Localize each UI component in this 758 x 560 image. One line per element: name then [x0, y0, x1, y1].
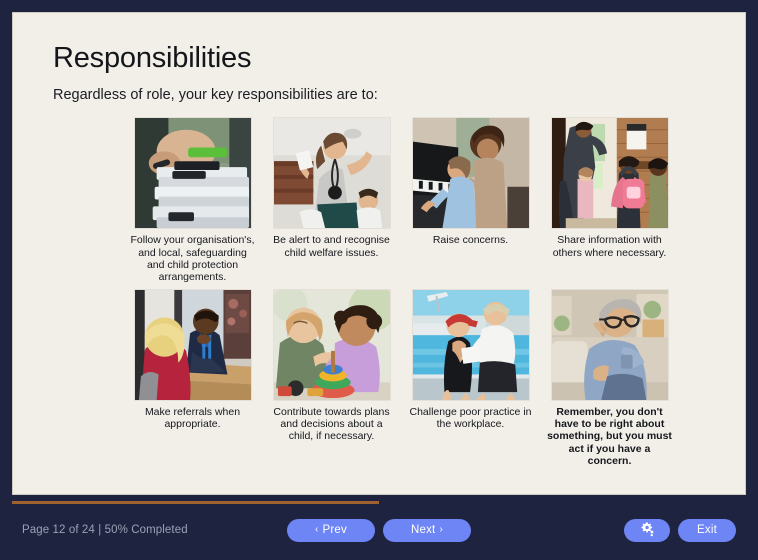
exit-button[interactable]: Exit	[678, 519, 736, 542]
responsibility-caption: Share information with others where nece…	[547, 234, 673, 258]
piano-image	[412, 117, 530, 229]
responsibility-caption: Contribute towards plans and decisions a…	[269, 406, 395, 443]
chevron-right-icon: ›	[439, 525, 443, 535]
settings-button[interactable]	[624, 519, 670, 542]
responsibility-card: Follow your organisation's, and local, s…	[123, 117, 262, 283]
responsibility-card: Make referrals when appropriate.	[123, 289, 262, 467]
responsibility-caption: Raise concerns.	[408, 234, 534, 246]
prev-button[interactable]: ‹ Prev	[287, 519, 375, 542]
responsibility-caption: Follow your organisation's, and local, s…	[130, 234, 256, 283]
responsibility-caption: Make referrals when appropriate.	[130, 406, 256, 430]
prev-button-label: Prev	[323, 524, 347, 536]
page-title: Responsibilities	[53, 43, 711, 73]
responsibility-card: Share information with others where nece…	[540, 117, 679, 283]
responsibility-caption: Remember, you don't have to be right abo…	[547, 406, 673, 467]
responsibility-card: Be alert to and recognise child welfare …	[262, 117, 401, 283]
chevron-left-icon: ‹	[315, 525, 319, 535]
slide-subtitle: Regardless of role, your key responsibil…	[53, 87, 711, 103]
meeting-image	[134, 289, 252, 401]
responsibility-card: Challenge poor practice in the workplace…	[401, 289, 540, 467]
responsibility-card: Contribute towards plans and decisions a…	[262, 289, 401, 467]
course-player: Responsibilities Regardless of role, you…	[0, 0, 758, 560]
responsibility-grid-row-1: Follow your organisation's, and local, s…	[43, 117, 711, 283]
responsibility-grid-row-2: Make referrals when appropriate.	[43, 289, 711, 467]
thoughtful-man-image	[551, 289, 669, 401]
responsibility-caption: Be alert to and recognise child welfare …	[269, 234, 395, 258]
responsibility-card: Remember, you don't have to be right abo…	[540, 289, 679, 467]
footer-right-group: Exit	[624, 519, 736, 542]
player-footer: Page 12 of 24 | 50% Completed ‹ Prev Nex…	[12, 504, 746, 560]
school-entrance-image	[551, 117, 669, 229]
toddler-play-image	[273, 289, 391, 401]
exit-button-label: Exit	[697, 524, 717, 536]
navigation-buttons: ‹ Prev Next ›	[287, 519, 471, 542]
page-status-text: Page 12 of 24 | 50% Completed	[22, 524, 188, 536]
next-button[interactable]: Next ›	[383, 519, 471, 542]
documents-image	[134, 117, 252, 229]
responsibility-card: Raise concerns.	[401, 117, 540, 283]
slide-stage: Responsibilities Regardless of role, you…	[12, 12, 746, 495]
next-button-label: Next	[411, 524, 435, 536]
poolside-image	[412, 289, 530, 401]
responsibility-caption: Challenge poor practice in the workplace…	[408, 406, 534, 430]
gear-icon	[639, 521, 655, 540]
teacher-image	[273, 117, 391, 229]
